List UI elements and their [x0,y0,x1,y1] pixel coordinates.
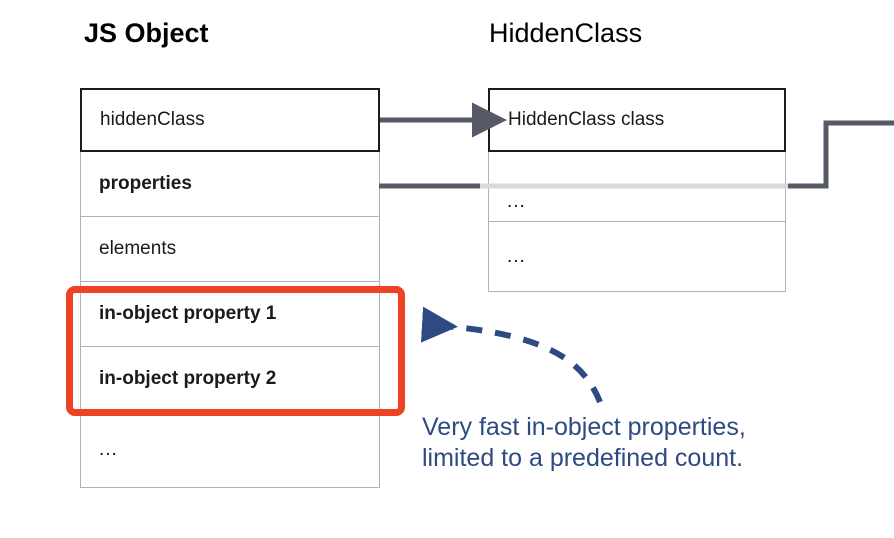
table-row-properties[interactable]: properties [80,152,380,217]
table-row-hidden-class-ellipsis-1[interactable]: ... [488,152,786,222]
row-label: ... [507,191,526,213]
annotation-line-2: limited to a predefined count. [422,443,872,474]
hidden-class-table: HiddenClass class ... ... [488,88,786,292]
dashed-curve-arrow-icon [428,325,600,402]
row-label: HiddenClass class [508,109,664,131]
table-row-hidden-class[interactable]: hiddenClass [80,88,380,152]
row-label: hiddenClass [100,109,205,131]
table-row-elements[interactable]: elements [80,217,380,282]
table-row-hidden-class-ellipsis-2[interactable]: ... [488,222,786,292]
row-label: ... [507,246,526,268]
table-row-js-object-ellipsis[interactable]: ... [80,412,380,488]
annotation-line-1: Very fast in-object properties, [422,412,872,443]
diagram-canvas: JS Object HiddenClass hiddenClass proper… [0,0,894,538]
callout-annotation: Very fast in-object properties, limited … [422,412,872,474]
page-title-js-object: JS Object [84,20,209,47]
row-label: ... [99,439,118,461]
table-row-hidden-class-class[interactable]: HiddenClass class [488,88,786,152]
row-label: elements [99,238,176,260]
in-object-properties-highlight-box [66,286,405,416]
page-title-hidden-class: HiddenClass [489,20,642,47]
row-label: properties [99,173,192,195]
